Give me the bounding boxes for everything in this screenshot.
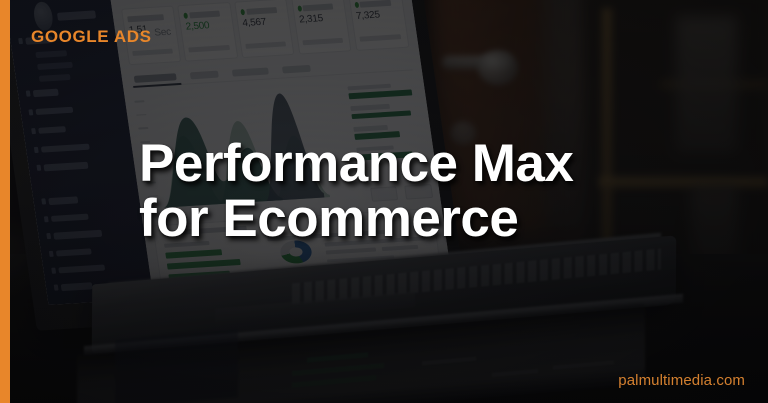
headline-line-1: Performance Max xyxy=(139,134,573,193)
page-title: Performance Maxfor Ecommerce xyxy=(139,136,573,246)
promo-banner: 1.51 Sec 2,500 xyxy=(0,0,768,403)
eyebrow-label: GOOGLE ADS xyxy=(31,28,152,45)
site-watermark: palmultimedia.com xyxy=(618,372,745,389)
left-accent-bar xyxy=(0,0,10,403)
headline-line-2: for Ecommerce xyxy=(139,189,518,248)
